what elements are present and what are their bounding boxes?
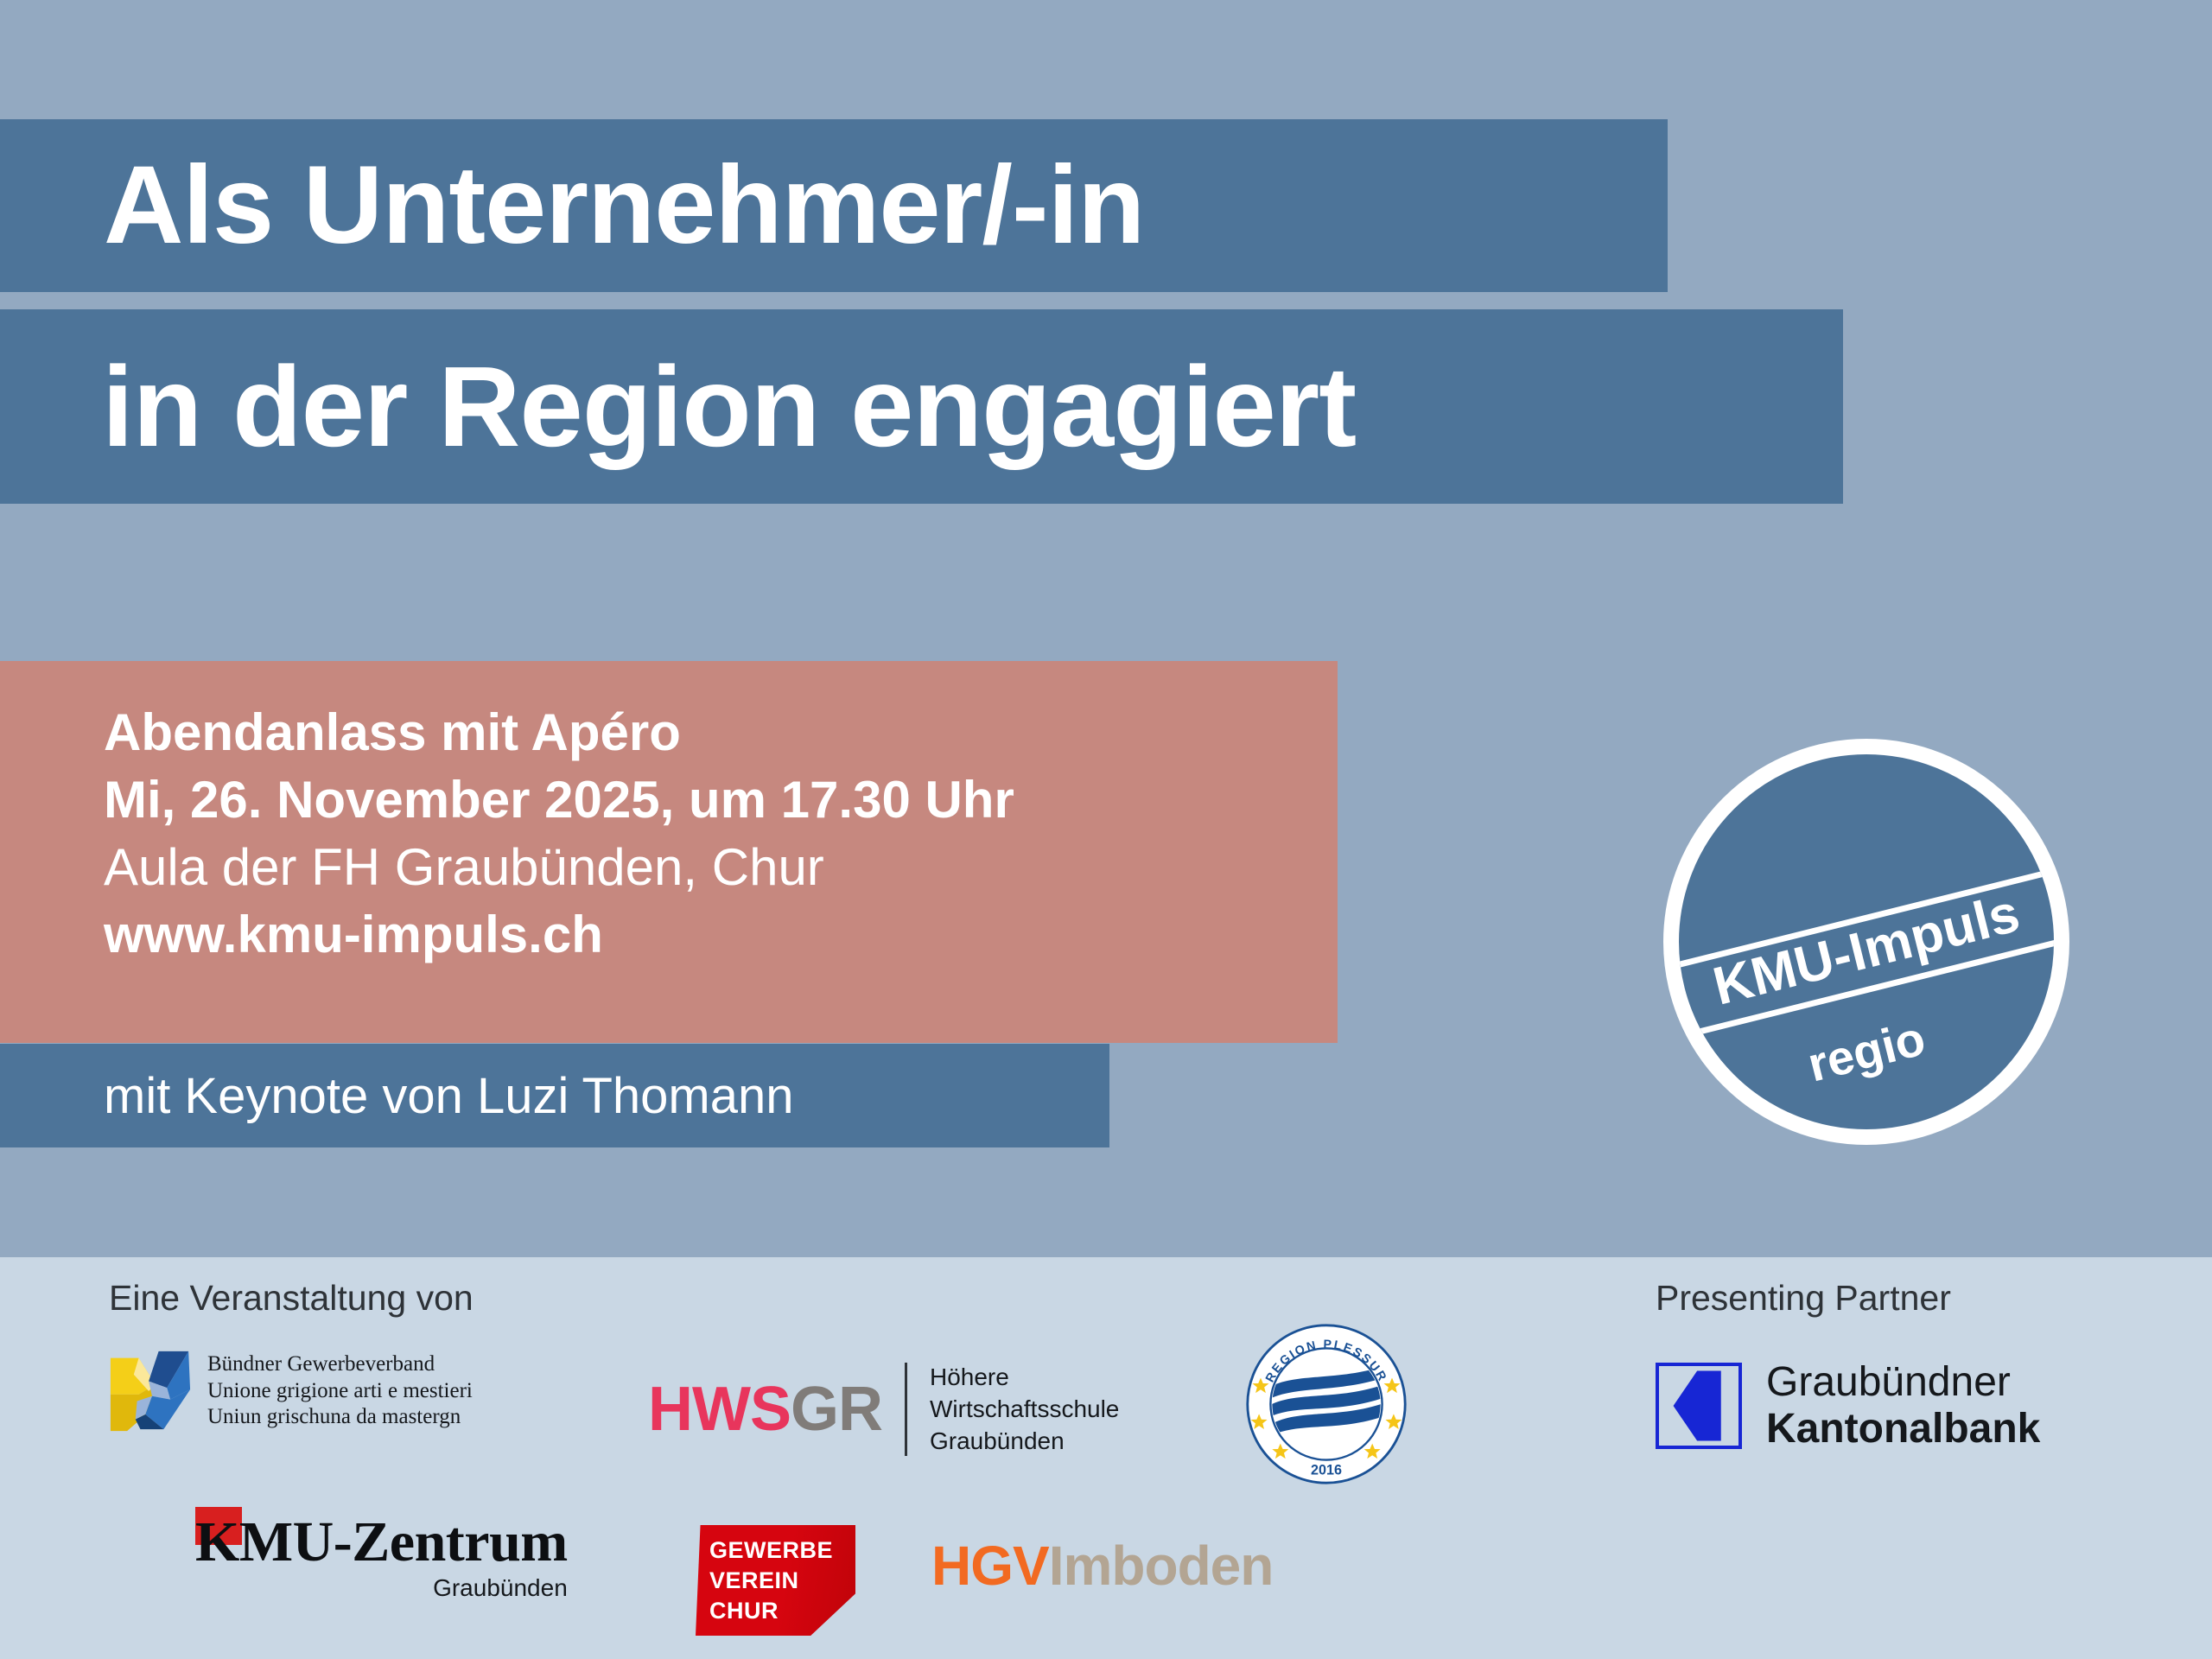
hwsgr-sub-2: Wirtschaftsschule	[930, 1393, 1119, 1425]
poster-title-line-2: in der Region engagiert	[102, 350, 1356, 464]
hwsgr-sub-3: Graubünden	[930, 1425, 1119, 1457]
logo-hws-graubuenden[interactable]: HWSGR Höhere Wirtschaftsschule Graubünde…	[648, 1361, 1119, 1458]
gvc-line-2: VEREIN	[709, 1566, 833, 1596]
imboden-part: Imboden	[1049, 1535, 1274, 1597]
hwsgr-hws: HWS	[648, 1375, 791, 1444]
gkb-chevron-icon	[1656, 1363, 1742, 1449]
gvc-wordmark: GEWERBE VEREIN CHUR	[709, 1535, 833, 1626]
event-datetime: Mi, 26. November 2025, um 17.30 Uhr	[104, 766, 1338, 834]
gkb-line-2: Kantonalbank	[1766, 1406, 2040, 1452]
keynote-bar: mit Keynote von Luzi Thomann	[0, 1044, 1109, 1147]
bgv-mark-icon	[109, 1350, 192, 1433]
bgv-name-de: Bündner Gewerbeverband	[207, 1351, 473, 1378]
logo-buendner-gewerbeverband[interactable]: Bündner Gewerbeverband Unione grigione a…	[109, 1350, 473, 1433]
logo-hgv-imboden[interactable]: HGVImboden	[931, 1538, 1273, 1593]
hwsgr-divider	[905, 1363, 907, 1456]
logo-region-plessur[interactable]: REGION PLESSUR 2016	[1244, 1322, 1408, 1486]
gvc-line-3: CHUR	[709, 1596, 833, 1626]
logo-graubuendner-kantonalbank[interactable]: Graubündner Kantonalbank	[1656, 1359, 2040, 1452]
gvc-line-1: GEWERBE	[709, 1535, 833, 1566]
event-type: Abendanlass mit Apéro	[104, 699, 1338, 766]
bgv-name-rm: Uniun grischuna da mastergn	[207, 1404, 473, 1431]
keynote-speaker: mit Keynote von Luzi Thomann	[104, 1067, 794, 1125]
logo-kmu-zentrum[interactable]: KMU-Zentrum Graubünden	[195, 1514, 568, 1602]
event-details-box: Abendanlass mit Apéro Mi, 26. November 2…	[0, 661, 1338, 1043]
event-poster: Als Unternehmer/-in in der Region engagi…	[0, 0, 2212, 1659]
presenting-partner-label: Presenting Partner	[1656, 1278, 1951, 1319]
event-venue: Aula der FH Graubünden, Chur	[104, 834, 1338, 901]
event-website-link[interactable]: www.kmu-impuls.ch	[104, 901, 1338, 969]
bgv-name-it: Unione grigione arti e mestieri	[207, 1378, 473, 1405]
gkb-line-1: Graubündner	[1766, 1359, 2040, 1406]
hwsgr-subtitle: Höhere Wirtschaftsschule Graubünden	[930, 1361, 1119, 1458]
title-bar-line-1: Als Unternehmer/-in	[0, 119, 1668, 292]
kmu-impuls-regio-logo: KMU-Impuls regio	[1663, 739, 2069, 1145]
title-bar-line-2: in der Region engagiert	[0, 309, 1843, 504]
organizer-label: Eine Veranstaltung von	[109, 1278, 474, 1319]
hgv-part: HGV	[931, 1535, 1049, 1597]
poster-title-line-1: Als Unternehmer/-in	[104, 150, 1144, 261]
kmuz-subtitle: Graubünden	[195, 1574, 568, 1602]
hwsgr-gr: GR	[791, 1375, 882, 1444]
logo-gewerbeverein-chur[interactable]: GEWERBE VEREIN CHUR	[696, 1525, 855, 1636]
hwsgr-sub-1: Höhere	[930, 1361, 1119, 1393]
gkb-wordmark: Graubündner Kantonalbank	[1766, 1359, 2040, 1452]
svg-text:2016: 2016	[1311, 1463, 1342, 1478]
kmuz-wordmark: KMU-Zentrum	[195, 1514, 568, 1571]
footer-partners: Eine Veranstaltung von Presenting Partne…	[0, 1257, 2212, 1659]
hwsgr-wordmark: HWSGR	[648, 1378, 882, 1440]
bgv-name-lines: Bündner Gewerbeverband Unione grigione a…	[207, 1351, 473, 1431]
